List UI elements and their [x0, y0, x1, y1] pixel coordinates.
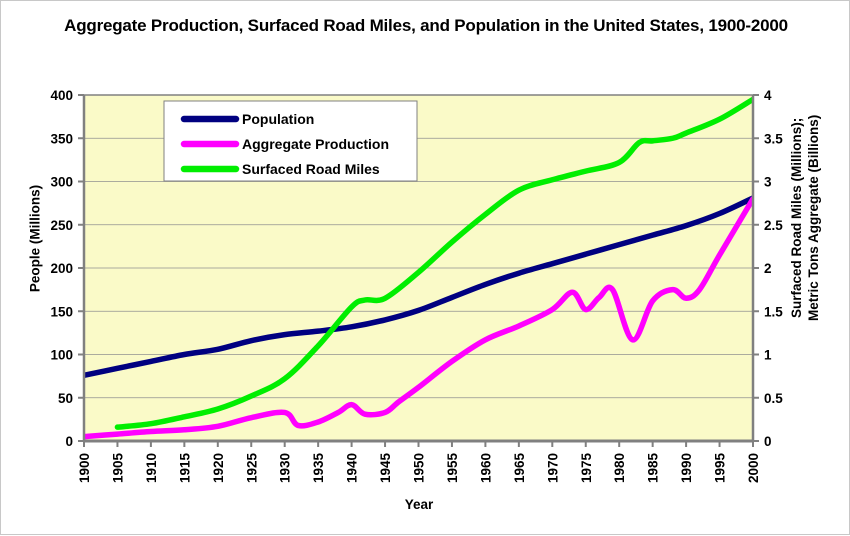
x-tick-label: 1995 [713, 453, 728, 484]
x-tick-label: 1925 [244, 453, 259, 484]
chart-legend: PopulationAggregate ProductionSurfaced R… [164, 101, 417, 181]
x-tick-label: 1910 [144, 453, 159, 483]
x-tick-label: 1985 [646, 453, 661, 484]
x-tick-label: 1935 [311, 453, 326, 484]
y-tick-label-right: 4 [764, 88, 772, 103]
y-tick-label-right: 1.5 [764, 304, 783, 319]
x-tick-label: 1960 [478, 453, 493, 483]
x-axis-label: Year [84, 497, 754, 512]
y-tick-label-left: 50 [58, 391, 73, 406]
y-tick-label-right: 0.5 [764, 391, 783, 406]
x-tick-label: 1945 [378, 453, 393, 484]
x-tick-label: 1920 [211, 453, 226, 483]
y-tick-label-right: 3 [764, 175, 772, 190]
x-tick-label: 1975 [579, 453, 594, 484]
y-tick-label-left: 0 [65, 434, 73, 449]
y-tick-label-right: 2.5 [764, 218, 783, 233]
x-tick-label: 1930 [278, 453, 293, 483]
y-tick-label-right: 1 [764, 348, 772, 363]
y-axis-label-right: Surfaced Road Miles (Millions); Metric T… [789, 103, 823, 333]
x-tick-label: 1905 [110, 453, 125, 484]
x-tick-label: 1950 [412, 453, 427, 483]
x-tick-label: 1900 [77, 453, 92, 483]
y-tick-label-left: 400 [50, 88, 73, 103]
legend-label-population: Population [242, 111, 314, 127]
x-tick-label: 1990 [679, 453, 694, 483]
y-tick-label-right: 0 [764, 434, 772, 449]
y-tick-label-left: 250 [50, 218, 73, 233]
chart-plot-area: 05010015020025030035040000.511.522.533.5… [1, 1, 850, 536]
legend-label-surfaced-road-miles: Surfaced Road Miles [242, 161, 380, 177]
y-tick-label-left: 350 [50, 131, 73, 146]
y-axis-label-right-line1: Surfaced Road Miles (Millions); Metric T… [789, 115, 821, 321]
x-tick-label: 1915 [177, 453, 192, 484]
chart-figure: Aggregate Production, Surfaced Road Mile… [0, 0, 850, 535]
x-tick-label: 1970 [545, 453, 560, 483]
x-tick-label: 1965 [512, 453, 527, 484]
y-axis-label-left: People (Millions) [28, 159, 43, 319]
y-tick-label-right: 2 [764, 261, 772, 276]
x-tick-label: 1940 [345, 453, 360, 483]
y-tick-label-left: 200 [50, 261, 73, 276]
x-tick-label: 2000 [746, 453, 761, 483]
y-tick-label-left: 300 [50, 175, 73, 190]
y-tick-label-left: 150 [50, 304, 73, 319]
x-tick-label: 1980 [612, 453, 627, 483]
y-tick-label-left: 100 [50, 348, 73, 363]
legend-label-aggregate-production: Aggregate Production [242, 136, 389, 152]
y-tick-label-right: 3.5 [764, 131, 783, 146]
x-tick-label: 1955 [445, 453, 460, 484]
